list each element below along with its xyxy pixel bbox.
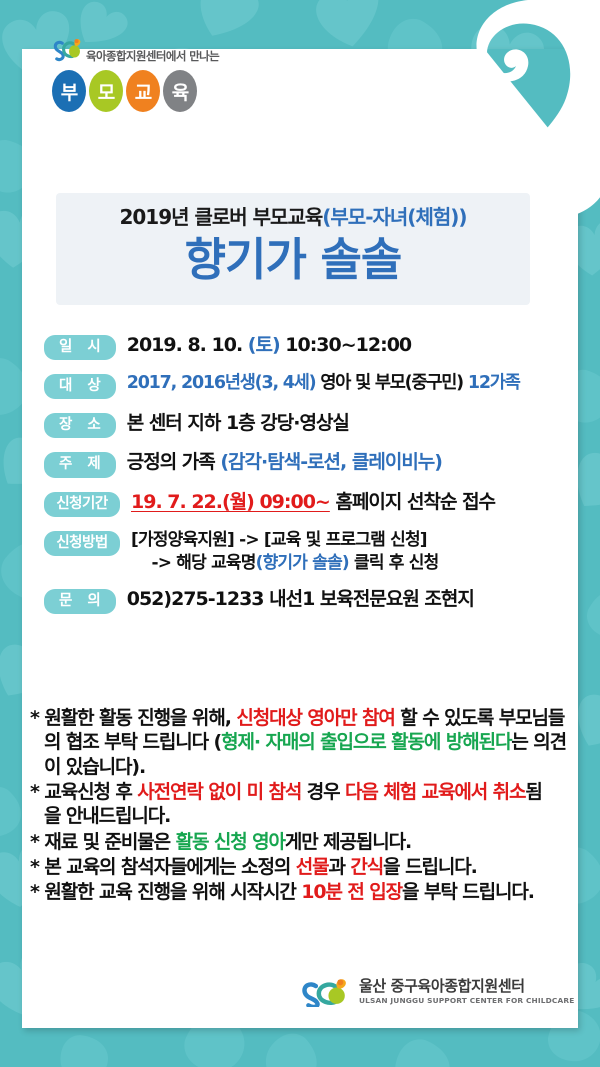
text-run: 클릭 후 신청	[349, 553, 439, 573]
info-row-label: 대 상	[44, 374, 116, 399]
text-run: 2017, 2016년생(3, 4세)	[127, 373, 316, 393]
brand-circle-2: 교	[126, 70, 160, 112]
text-run: 영아 및 부모(중구민)	[315, 373, 467, 393]
sc-swirl-icon	[52, 37, 82, 63]
text-run: (감각·탐색-로션, 클레이비누)	[220, 451, 442, 473]
page-title: 향기가 솔솔	[56, 234, 530, 286]
text-run: 게만 제공됩니다.	[285, 831, 411, 853]
brand-syllable-circles: 부 모 교 육	[52, 70, 219, 112]
text-run: 선물	[296, 856, 329, 878]
text-run: 신청대상 영아만 참여	[236, 707, 394, 729]
sc-swirl-icon-footer	[298, 977, 350, 1007]
text-run: 12가족	[468, 373, 520, 393]
info-row-label: 일 시	[44, 335, 116, 360]
brand-circle-1: 모	[89, 70, 123, 112]
text-run: 10분 전 입장	[301, 881, 402, 903]
info-row: 대 상2017, 2016년생(3, 4세) 영아 및 부모(중구민) 12가족	[44, 372, 564, 399]
text-run: 과	[329, 856, 351, 878]
footer-center-name-en: ULSAN JUNGGU SUPPORT CENTER FOR CHILDCAR…	[359, 997, 574, 1004]
footer-logo-text: 울산 중구육아종합지원센터 ULSAN JUNGGU SUPPORT CENTE…	[359, 979, 574, 1004]
info-row: 문 의052)275-1233 내선1 보육전문요원 조현지	[44, 587, 564, 614]
title-block: 2019년 클로버 부모교육(부모-자녀(체험)) 향기가 솔솔	[56, 193, 530, 305]
text-run: * 본 교육의 참석자들에게는 소정의	[30, 856, 296, 878]
text-run: 형제· 자매의 출입으로 활동에 방해된다	[221, 731, 511, 753]
info-row-value: [가정양육지원] -> [교육 및 프로그램 신청] -> 해당 교육명(향기가…	[131, 529, 438, 575]
poster-canvas: 육아종합지원센터에서 만나는 부 모 교 육 2019년 클로버 부모교육(부모…	[0, 0, 600, 1067]
text-run: 경우	[301, 781, 345, 803]
info-row-value: 2019. 8. 10. (토) 10:30~12:00	[127, 333, 411, 358]
note-item: * 교육신청 후 사전연락 없이 미 참석 경우 다음 체험 교육에서 취소됨을…	[30, 780, 575, 829]
brand-tagline: 육아종합지원센터에서 만나는	[86, 51, 219, 64]
footer-logo: 울산 중구육아종합지원센터 ULSAN JUNGGU SUPPORT CENTE…	[298, 977, 574, 1007]
footer-center-name-ko: 울산 중구육아종합지원센터	[359, 979, 574, 994]
info-row-value: 052)275-1233 내선1 보육전문요원 조현지	[127, 587, 474, 612]
brand-circle-0: 부	[52, 70, 86, 112]
text-run: 다음 체험 교육에서 취소	[345, 781, 525, 803]
info-row: 신청기간19. 7. 22.(월) 09:00~ 홈페이지 선착순 접수	[44, 490, 564, 517]
brand-logo: 육아종합지원센터에서 만나는 부 모 교 육	[52, 37, 219, 112]
note-item: * 원활한 교육 진행을 위해 시작시간 10분 전 입장을 부탁 드립니다.	[30, 880, 575, 904]
text-run: (향기가 솔솔)	[256, 553, 349, 573]
info-table: 일 시2019. 8. 10. (토) 10:30~12:00대 상2017, …	[44, 333, 564, 626]
info-row-value: 긍정의 가족 (감각·탐색-로션, 클레이비누)	[127, 450, 442, 475]
note-item: * 재료 및 준비물은 활동 신청 영아게만 제공됩니다.	[30, 830, 575, 854]
text-run: 사전연락 없이 미 참석	[137, 781, 301, 803]
text-run: 을 부탁 드립니다.	[402, 881, 534, 903]
info-row-label: 장 소	[44, 413, 116, 438]
info-row-value: 2017, 2016년생(3, 4세) 영아 및 부모(중구민) 12가족	[127, 372, 520, 395]
notes-list: * 원활한 활동 진행을 위해, 신청대상 영아만 참여 할 수 있도록 부모님…	[30, 706, 575, 906]
info-row: 신청방법[가정양육지원] -> [교육 및 프로그램 신청] -> 해당 교육명…	[44, 529, 564, 575]
info-row-label: 문 의	[44, 589, 116, 614]
text-run: [가정양육지원] -> [교육 및 프로그램 신청]	[131, 530, 427, 550]
text-run: * 교육신청 후	[30, 781, 137, 803]
text-run: * 원활한 활동 진행을 위해,	[30, 707, 236, 729]
brand-circle-3: 육	[163, 70, 197, 112]
text-run: (토)	[248, 334, 280, 356]
text-run: 본 센터 지하 1층 강당·영상실	[127, 412, 349, 434]
text-run: -> 해당 교육명	[131, 553, 256, 573]
text-run: 19. 7. 22.(월) 09:00~	[131, 491, 330, 513]
info-row: 주 제긍정의 가족 (감각·탐색-로션, 클레이비누)	[44, 450, 564, 477]
title-subtitle-prefix: 2019년 클로버 부모교육	[119, 205, 322, 229]
note-item: * 본 교육의 참석자들에게는 소정의 선물과 간식을 드립니다.	[30, 855, 575, 879]
text-run: 간식	[350, 856, 383, 878]
info-row-label: 신청기간	[44, 492, 120, 517]
text-run: 2019. 8. 10.	[127, 334, 248, 356]
brand-top-row: 육아종합지원센터에서 만나는	[52, 37, 219, 63]
info-row-value: 본 센터 지하 1층 강당·영상실	[127, 411, 349, 436]
text-run: 을 드립니다.	[383, 856, 477, 878]
title-subtitle: 2019년 클로버 부모교육(부모-자녀(체험))	[56, 206, 530, 228]
text-run: 홈페이지 선착순 접수	[330, 491, 495, 513]
info-row-label: 주 제	[44, 452, 116, 477]
note-item: * 원활한 활동 진행을 위해, 신청대상 영아만 참여 할 수 있도록 부모님…	[30, 706, 575, 779]
text-run: 긍정의 가족	[127, 451, 221, 473]
info-row: 일 시2019. 8. 10. (토) 10:30~12:00	[44, 333, 564, 360]
info-row: 장 소본 센터 지하 1층 강당·영상실	[44, 411, 564, 438]
text-run: 활동 신청 영아	[176, 831, 285, 853]
info-row-label: 신청방법	[44, 531, 120, 556]
text-run: 052)275-1233 내선1 보육전문요원 조현지	[127, 588, 474, 610]
text-run: * 재료 및 준비물은	[30, 831, 176, 853]
card-corner-notch	[448, 49, 578, 165]
text-run: 10:30~12:00	[280, 334, 412, 356]
text-run: * 원활한 교육 진행을 위해 시작시간	[30, 881, 301, 903]
title-subtitle-highlight: (부모-자녀(체험))	[322, 205, 466, 229]
info-row-value: 19. 7. 22.(월) 09:00~ 홈페이지 선착순 접수	[131, 490, 495, 515]
